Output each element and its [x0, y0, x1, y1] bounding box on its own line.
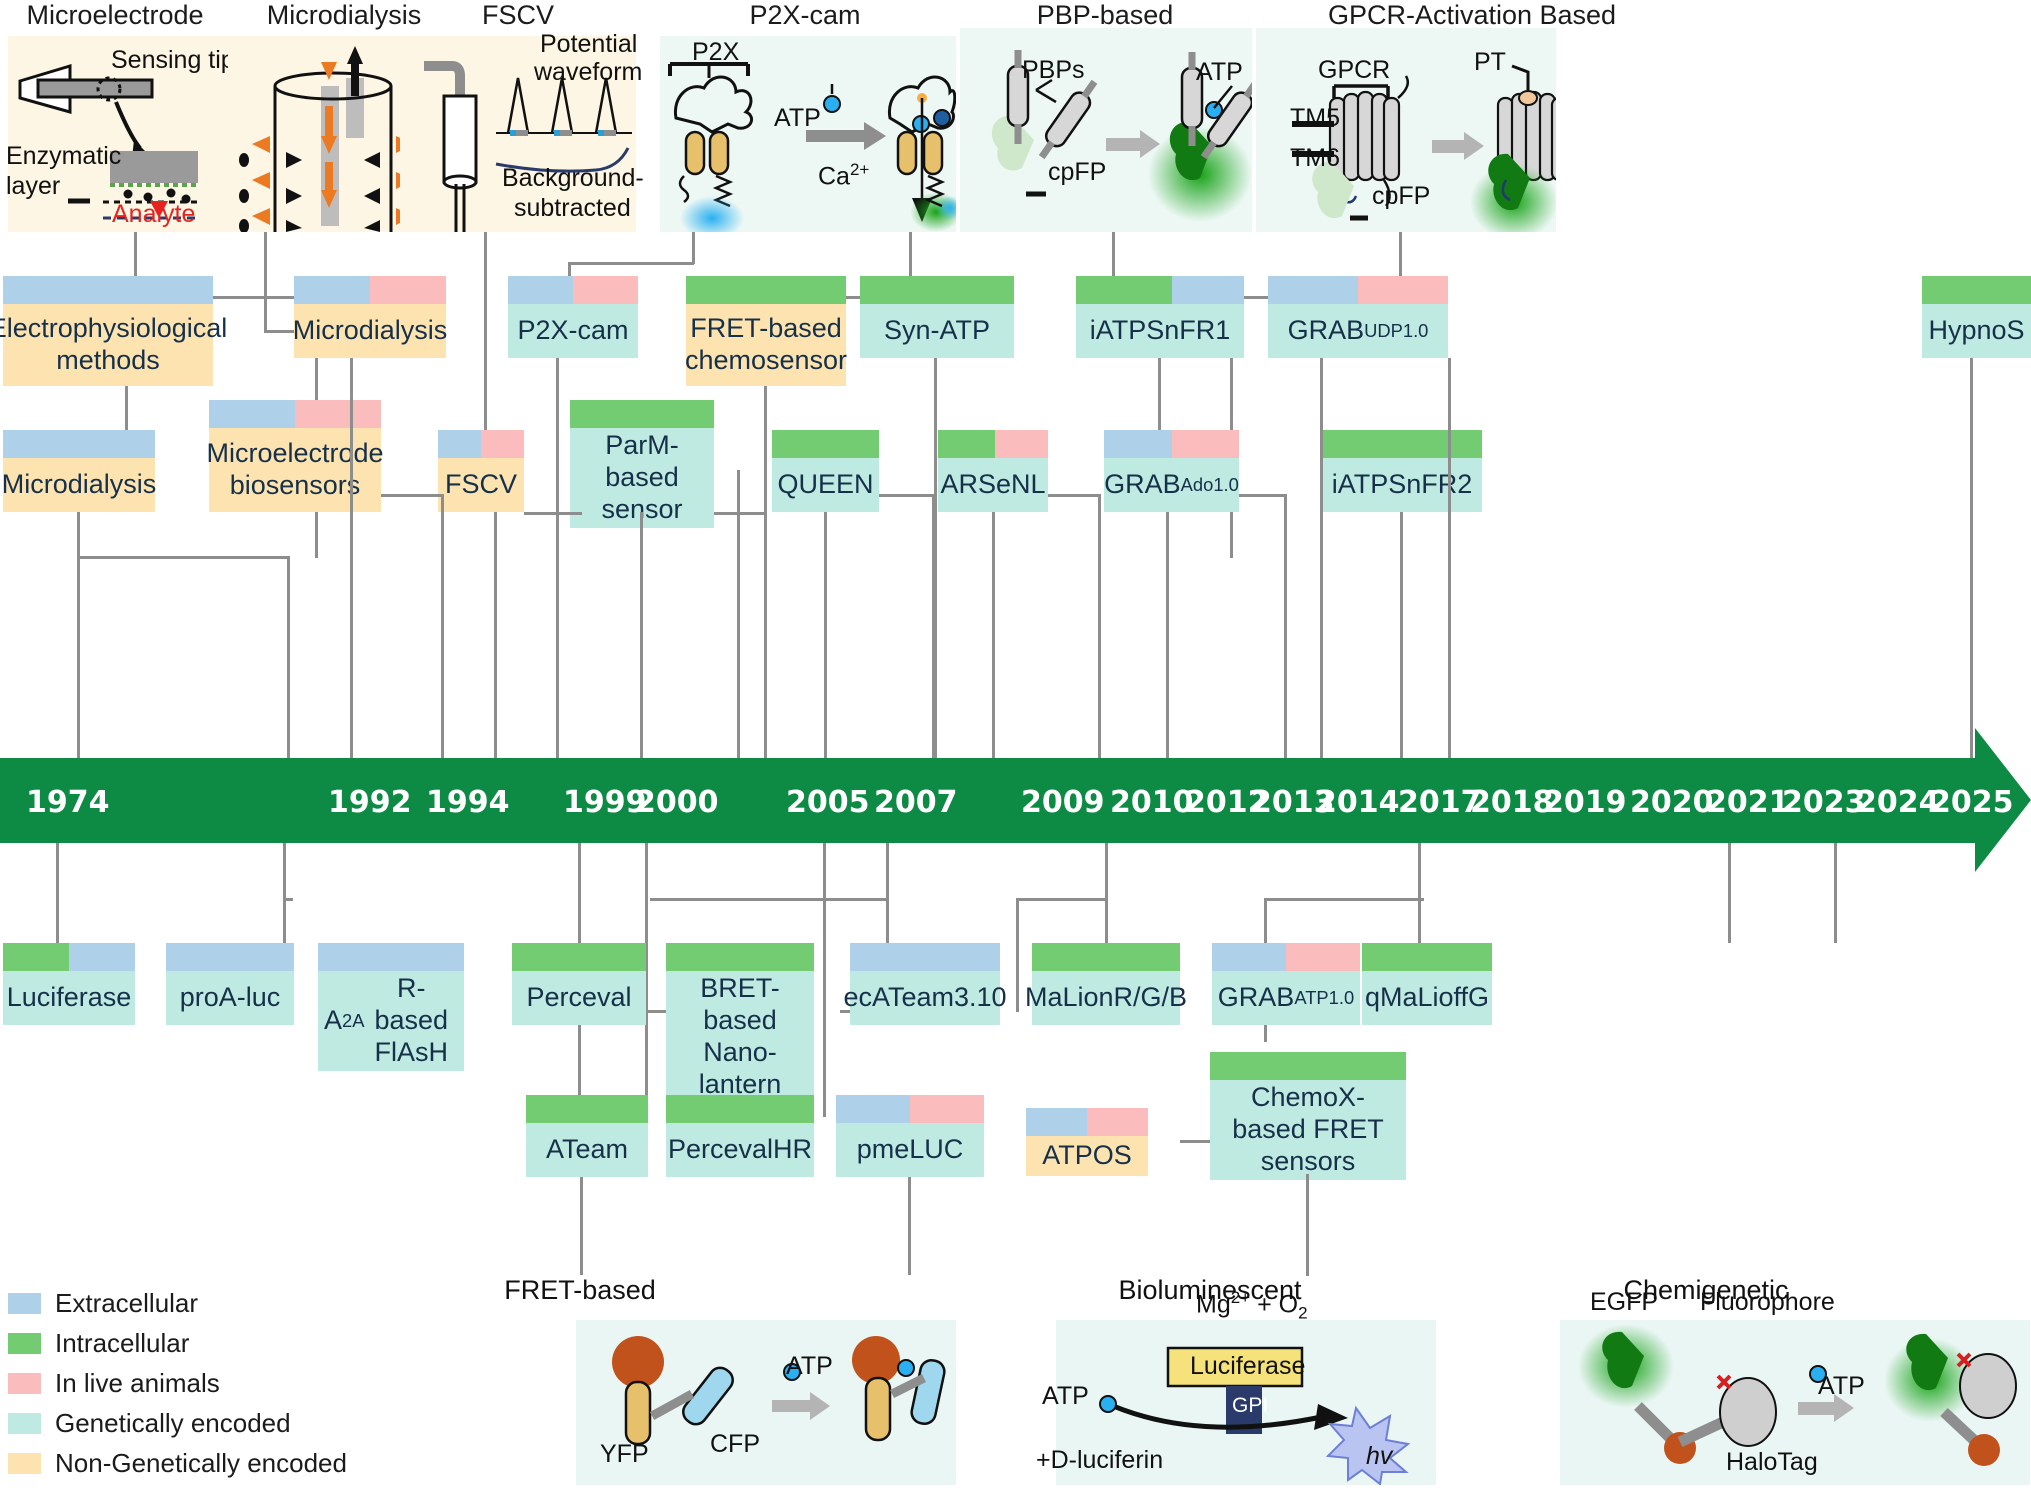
timeline-year[interactable]: 2021 — [1706, 785, 1790, 820]
connector — [1284, 494, 1287, 758]
sensor-box[interactable]: ATPOS — [1026, 1108, 1148, 1176]
sensor-box[interactable]: ATeam — [526, 1095, 648, 1177]
label-atp-biolum: ATP — [1042, 1382, 1089, 1411]
category-bar — [512, 943, 646, 971]
connector — [1400, 512, 1403, 758]
label-atp-fret: ATP — [786, 1352, 833, 1381]
label-waveform: waveform — [534, 58, 642, 87]
sensor-box[interactable]: pmeLUC — [836, 1095, 984, 1177]
category-bar — [1922, 276, 2031, 304]
label-mg-o2: Mg2+ + O2 — [1196, 1288, 1308, 1323]
category-bar — [1268, 276, 1448, 304]
sensor-box[interactable]: ARSeNL — [938, 430, 1048, 512]
sensor-box[interactable]: proA-luc — [166, 943, 294, 1025]
connector — [381, 494, 443, 497]
sensor-label: iATPSnFR2 — [1322, 458, 1482, 512]
sensor-label: proA-luc — [166, 971, 294, 1025]
sensor-label-sub: ATP1.0 — [1294, 987, 1354, 1009]
legend-swatch-extracellular — [8, 1293, 41, 1314]
sensor-box[interactable]: HypnoS — [1922, 276, 2031, 358]
connector — [1320, 358, 1323, 758]
category-bar — [1076, 276, 1244, 304]
label-tm6: TM6 — [1290, 144, 1340, 173]
sensor-box[interactable]: A2AR-based FlAsH — [318, 943, 464, 1055]
category-bar — [1032, 943, 1180, 971]
timeline-year[interactable]: 1992 — [328, 785, 412, 820]
legend-label: In live animals — [55, 1368, 220, 1399]
sensor-label: ecATeam3.10 — [850, 971, 1000, 1025]
connector — [1048, 494, 1100, 497]
legend-swatch-non-genetically-encoded — [8, 1453, 41, 1474]
category-bar — [860, 276, 1014, 304]
timeline-year[interactable]: 2025 — [1930, 785, 2014, 820]
label-subtracted: subtracted — [514, 194, 631, 223]
timeline-year[interactable]: 2009 — [1021, 785, 1105, 820]
category-bar — [686, 276, 846, 304]
category-bar — [1026, 1108, 1148, 1136]
category-bar — [570, 400, 714, 428]
connector — [1016, 898, 1019, 1012]
sensor-box[interactable]: ecATeam3.10 — [850, 943, 1000, 1025]
connector — [908, 1177, 911, 1275]
category-bar — [209, 400, 381, 428]
sensor-box[interactable]: Electrophysiological methods — [3, 276, 213, 386]
label-egfp: EGFP — [1590, 1288, 1658, 1317]
category-bar — [526, 1095, 648, 1123]
connector — [1264, 898, 1424, 901]
sensor-label: ATeam — [526, 1123, 648, 1177]
sensor-box[interactable]: QUEEN — [772, 430, 879, 512]
sensor-box[interactable]: GRABAdo1.0 — [1104, 430, 1239, 512]
connector — [714, 512, 766, 515]
connector — [264, 330, 294, 333]
sensor-box[interactable]: Syn-ATP — [860, 276, 1014, 358]
connector — [441, 494, 444, 758]
label-potential: Potential — [540, 30, 637, 59]
sensor-box[interactable]: MaLionR/G/B — [1032, 943, 1180, 1025]
connector — [823, 843, 826, 1117]
label-atp-p2x: ATP — [774, 104, 821, 133]
category-bar — [666, 1095, 814, 1123]
sensor-label: Electrophysiological methods — [3, 304, 213, 386]
connector — [264, 232, 267, 332]
sensor-label: HypnoS — [1922, 304, 2031, 358]
sensor-label: GRABUDP1.0 — [1268, 304, 1448, 358]
connector — [764, 386, 767, 758]
connector — [886, 843, 889, 943]
timeline-year[interactable]: 1994 — [426, 785, 510, 820]
connector — [1728, 843, 1731, 943]
sensor-box[interactable]: Perceval — [512, 943, 646, 1025]
connector — [494, 512, 497, 758]
sensor-label: Microdialysis — [294, 304, 446, 358]
connector — [737, 470, 740, 758]
sensor-label-sub: UDP1.0 — [1364, 320, 1428, 342]
category-bar — [3, 943, 135, 971]
sensor-label: ATPOS — [1026, 1136, 1148, 1176]
label-atp-chemi: ATP — [1818, 1372, 1865, 1401]
sensor-label: iATPSnFR1 — [1076, 304, 1244, 358]
sensor-label-text: A — [324, 1005, 342, 1037]
label-enzymatic: Enzymatic — [6, 142, 121, 171]
sensor-label-rest: R-based FlAsH — [364, 973, 458, 1069]
sensor-box[interactable]: iATPSnFR2 — [1322, 430, 1482, 512]
label-luciferase: Luciferase — [1190, 1352, 1305, 1381]
category-bar — [850, 943, 1000, 971]
sensor-label-text: GRAB — [1104, 469, 1181, 501]
legend-item: In live animals — [8, 1368, 347, 1399]
category-bar — [166, 943, 294, 971]
sensor-box[interactable]: Microdialysis — [294, 276, 446, 358]
label-layer: layer — [6, 172, 60, 201]
sensor-label: Microdialysis — [3, 458, 155, 512]
sensor-label-text: GRAB — [1288, 315, 1365, 347]
category-bar — [836, 1095, 984, 1123]
label-ca2plus: Ca2+ — [818, 160, 869, 191]
timeline-year[interactable]: 2020 — [1630, 785, 1714, 820]
sensor-label: FSCV — [438, 458, 524, 512]
bottom-panel-title-fret: FRET-based — [440, 1275, 720, 1306]
legend-label: Extracellular — [55, 1288, 198, 1319]
connector — [879, 494, 933, 497]
sensor-label: Luciferase — [3, 971, 135, 1025]
legend-label: Genetically encoded — [55, 1408, 291, 1439]
connector — [283, 843, 286, 943]
sensor-box[interactable]: Microelectrode biosensors — [209, 400, 381, 512]
connector — [283, 898, 293, 901]
sensor-label: pmeLUC — [836, 1123, 984, 1177]
connector — [1970, 358, 1973, 758]
connector — [1306, 1174, 1309, 1276]
sensor-label: qMaLioffG — [1362, 971, 1492, 1025]
connector — [640, 512, 643, 758]
category-bar — [1362, 943, 1492, 971]
label-tm5: TM5 — [1290, 104, 1340, 133]
category-bar — [666, 943, 814, 971]
sensor-label: Syn-ATP — [860, 304, 1014, 358]
connector — [556, 358, 559, 758]
label-pt: PT — [1474, 48, 1506, 77]
connector — [1016, 898, 1108, 901]
category-bar — [772, 430, 879, 458]
connector — [1105, 843, 1108, 943]
sensor-box[interactable]: GRABATP1.0 — [1212, 943, 1360, 1025]
sensor-box[interactable]: GRABUDP1.0 — [1268, 276, 1448, 358]
panel-title-microelectrode: Microelectrode — [0, 0, 230, 31]
label-cpfp-pbp: cpFP — [1048, 158, 1106, 187]
label-cfp: CFP — [710, 1430, 760, 1459]
timeline-year[interactable]: 1974 — [26, 785, 110, 820]
label-d-luciferin: +D-luciferin — [1036, 1446, 1163, 1475]
sensor-label: Microelectrode biosensors — [209, 428, 381, 512]
sensor-box[interactable]: P2X-cam — [508, 276, 638, 358]
connector — [992, 512, 995, 758]
label-atp-pbp: ATP — [1196, 58, 1243, 87]
timeline-year[interactable]: 2019 — [1543, 785, 1627, 820]
label-hv: hv — [1366, 1442, 1392, 1471]
legend-item: Genetically encoded — [8, 1408, 347, 1439]
legend-item: Extracellular — [8, 1288, 347, 1319]
connector — [568, 262, 694, 265]
panel-title-fscv: FSCV — [398, 0, 638, 31]
label-pbps: PBPs — [1022, 56, 1085, 85]
panel-title-gpcr: GPCR-Activation Based — [1252, 0, 1692, 31]
connector — [650, 898, 888, 901]
connector — [692, 232, 695, 264]
sensor-label: MaLionR/G/B — [1032, 971, 1180, 1025]
sensor-label: PercevalHR — [666, 1123, 814, 1177]
category-bar — [318, 943, 464, 971]
connector — [1448, 358, 1451, 758]
sensor-label: GRABATP1.0 — [1212, 971, 1360, 1025]
legend-label: Non-Genetically encoded — [55, 1448, 347, 1479]
connector — [934, 358, 937, 758]
label-fluorophore: Fluorophore — [1700, 1288, 1835, 1317]
category-bar — [508, 276, 638, 304]
timeline-year[interactable]: 2024 — [1856, 785, 1940, 820]
sensor-label-sub: Ado1.0 — [1181, 474, 1239, 496]
sensor-box[interactable]: Microdialysis — [3, 430, 155, 512]
sensor-label: BRET-based Nano-lantern — [666, 971, 814, 1102]
connector — [580, 1177, 583, 1275]
category-bar — [438, 430, 524, 458]
legend-swatch-intracellular — [8, 1333, 41, 1354]
panel-title-p2xcam: P2X-cam — [660, 0, 950, 31]
legend-item: Intracellular — [8, 1328, 347, 1359]
connector — [1418, 843, 1421, 943]
sensor-label: ChemoX-based FRET sensors — [1210, 1080, 1406, 1180]
connector — [77, 556, 287, 559]
connector — [1834, 843, 1837, 943]
label-cpfp-gpcr: cpFP — [1372, 182, 1430, 211]
sensor-label-sub: 2A — [342, 1010, 364, 1032]
sensor-box[interactable]: ParM-based sensor — [570, 400, 714, 512]
category-bar — [1212, 943, 1360, 971]
sensor-box[interactable]: FRET-based chemosensor — [686, 276, 846, 386]
timeline-year[interactable]: 1999 — [563, 785, 647, 820]
sensor-label: Perceval — [512, 971, 646, 1025]
label-p2x: P2X — [692, 38, 739, 67]
label-halotag: HaloTag — [1726, 1448, 1818, 1477]
label-yfp: YFP — [600, 1440, 649, 1469]
category-bar — [1210, 1052, 1406, 1080]
connector — [1098, 494, 1101, 758]
label-gpi: GPI — [1232, 1394, 1268, 1418]
sensor-label: GRABAdo1.0 — [1104, 458, 1239, 512]
category-bar — [1104, 430, 1239, 458]
label-gpcr: GPCR — [1318, 56, 1390, 85]
connector — [350, 358, 353, 758]
timeline-year[interactable]: 2018 — [1470, 785, 1554, 820]
legend-label: Intracellular — [55, 1328, 189, 1359]
legend: Extracellular Intracellular In live anim… — [8, 1288, 347, 1488]
sensor-box[interactable]: iATPSnFR1 — [1076, 276, 1244, 358]
label-sensing-tip: Sensing tip — [111, 46, 235, 75]
sensor-box[interactable]: Luciferase — [3, 943, 135, 1025]
category-bar — [1322, 430, 1482, 458]
legend-swatch-genetically-encoded — [8, 1413, 41, 1434]
connector — [1166, 512, 1169, 758]
connector — [524, 512, 582, 515]
sensor-label: A2AR-based FlAsH — [318, 971, 464, 1071]
category-bar — [294, 276, 446, 304]
timeline-year[interactable]: 2007 — [874, 785, 958, 820]
connector — [56, 843, 59, 943]
label-background: Background- — [502, 164, 644, 193]
connector — [1239, 494, 1285, 497]
sensor-box[interactable]: BRET-based Nano-lantern — [666, 943, 814, 1055]
timeline-year[interactable]: 2000 — [635, 785, 719, 820]
connector — [1158, 358, 1161, 430]
timeline-year[interactable]: 2014 — [1316, 785, 1400, 820]
connector — [77, 512, 80, 758]
connector — [287, 556, 290, 758]
sensor-label: ARSeNL — [938, 458, 1048, 512]
category-bar — [938, 430, 1048, 458]
panel-title-pbp: PBP-based — [960, 0, 1250, 31]
connector — [824, 512, 827, 758]
sensor-label: P2X-cam — [508, 304, 638, 358]
timeline-year[interactable]: 2005 — [786, 785, 870, 820]
sensor-box[interactable]: FSCV — [438, 430, 524, 512]
legend-item: Non-Genetically encoded — [8, 1448, 347, 1479]
sensor-box[interactable]: PercevalHR — [666, 1095, 814, 1177]
timeline-year[interactable]: 2017 — [1398, 785, 1482, 820]
timeline-year[interactable]: 2010 — [1110, 785, 1194, 820]
label-analyte: Analyte — [112, 200, 195, 229]
sensor-label-text: GRAB — [1218, 982, 1295, 1014]
category-bar — [3, 276, 213, 304]
timeline-year[interactable]: 2023 — [1782, 785, 1866, 820]
connector — [125, 386, 128, 430]
sensor-label: QUEEN — [772, 458, 879, 512]
category-bar — [3, 430, 155, 458]
sensor-label: FRET-based chemosensor — [686, 304, 846, 386]
sensor-box[interactable]: ChemoX-based FRET sensors — [1210, 1052, 1406, 1174]
sensor-box[interactable]: qMaLioffG — [1362, 943, 1492, 1025]
legend-swatch-live-animals — [8, 1373, 41, 1394]
connector — [484, 232, 487, 444]
